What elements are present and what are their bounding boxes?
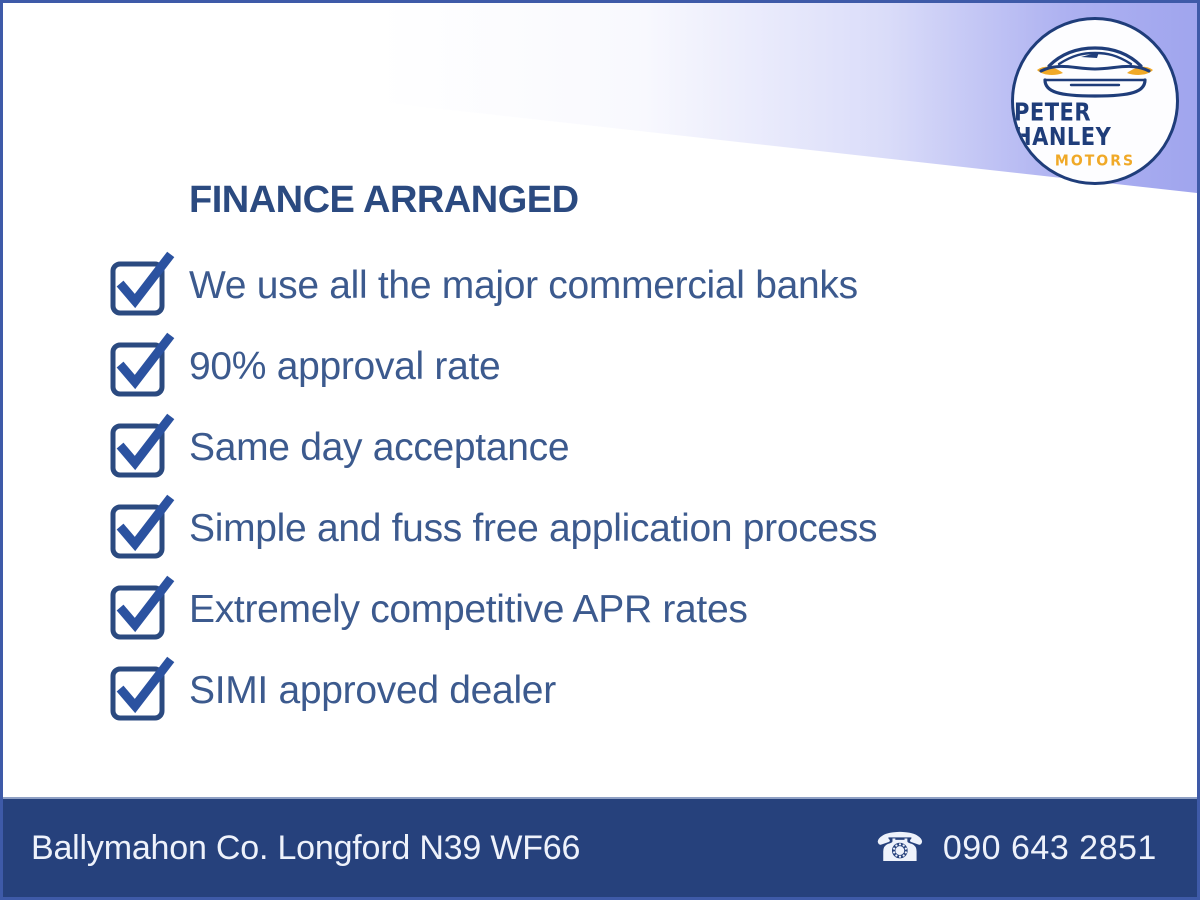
list-item-label: 90% approval rate: [189, 347, 500, 386]
page-title: FINANCE ARRANGED: [189, 179, 579, 222]
car-front-icon: [1029, 40, 1161, 102]
list-item: Simple and fuss free application process: [109, 488, 1089, 569]
checkbox-checked-icon: [109, 417, 171, 479]
checkbox-checked-icon: [109, 579, 171, 641]
feature-list: We use all the major commercial banks 90…: [109, 245, 1089, 731]
list-item-label: Extremely competitive APR rates: [189, 590, 748, 629]
footer-address: Ballymahon Co. Longford N39 WF66: [31, 829, 580, 868]
finance-arranged-poster: PETER HANLEY MOTORS FINANCE ARRANGED We …: [0, 0, 1200, 900]
list-item: Extremely competitive APR rates: [109, 569, 1089, 650]
checkbox-checked-icon: [109, 255, 171, 317]
list-item-label: Same day acceptance: [189, 428, 569, 467]
list-item-label: Simple and fuss free application process: [189, 509, 877, 548]
list-item-label: SIMI approved dealer: [189, 671, 556, 710]
footer-phone-number[interactable]: 090 643 2851: [943, 829, 1157, 868]
checkbox-checked-icon: [109, 498, 171, 560]
footer-phone-group[interactable]: ☎ 090 643 2851: [875, 828, 1157, 868]
list-item: We use all the major commercial banks: [109, 245, 1089, 326]
logo-sub-text: MOTORS: [1055, 153, 1135, 168]
list-item: Same day acceptance: [109, 407, 1089, 488]
list-item-label: We use all the major commercial banks: [189, 266, 858, 305]
checkbox-checked-icon: [109, 660, 171, 722]
logo-brand-text: PETER HANLEY: [1014, 100, 1176, 150]
telephone-icon: ☎: [875, 828, 925, 868]
list-item: SIMI approved dealer: [109, 650, 1089, 731]
list-item: 90% approval rate: [109, 326, 1089, 407]
checkbox-checked-icon: [109, 336, 171, 398]
dealer-logo-badge: PETER HANLEY MOTORS: [1011, 17, 1179, 185]
footer-bar: Ballymahon Co. Longford N39 WF66 ☎ 090 6…: [3, 797, 1197, 897]
